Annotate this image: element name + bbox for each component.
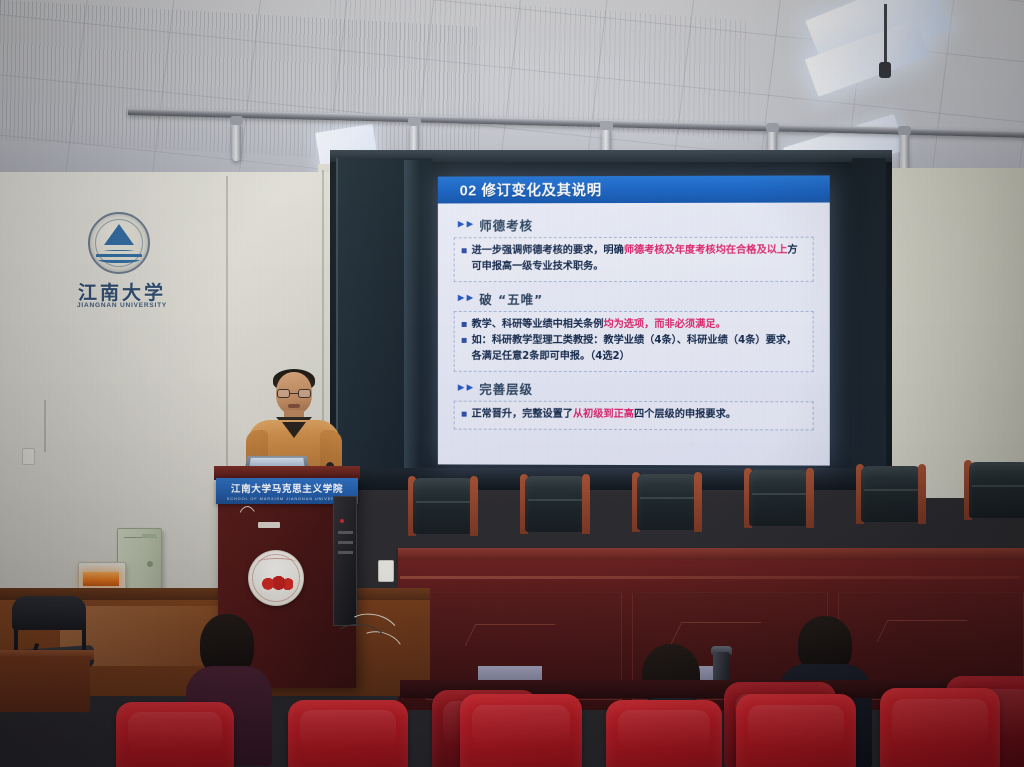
university-emblem-icon (88, 212, 150, 274)
bullet-square-icon (462, 248, 467, 253)
double-arrow-icon: ►► (456, 383, 474, 394)
wall-conduit (44, 400, 46, 452)
bullet-text: 进一步强调师德考核的要求，明确师德考核及年度考核均在合格及以上方可申报高一级专业… (472, 243, 806, 275)
glasses-icon (276, 389, 312, 398)
university-name-cn: 江南大学 (62, 278, 182, 305)
chair-frame-right (918, 464, 926, 524)
audience-seat (460, 694, 582, 767)
section-title-1: 师德考核 (479, 215, 533, 234)
seal-arc-text (257, 558, 297, 567)
bullet-text: 正常晋升，完整设置了从初级到正高四个层级的申报要求。 (472, 407, 736, 423)
side-table (0, 656, 90, 712)
slide-bullet: 教学、科研等业绩中相关条例均为选项，而非必须满足。 (462, 317, 806, 333)
chair-backrest (637, 474, 697, 530)
stage-chair (406, 478, 480, 540)
university-name-en: JIANGNAN UNIVERSITY (62, 302, 182, 309)
slide-title: 02 修订变化及其说明 (438, 179, 602, 200)
bullet-text: 教学、科研等业绩中相关条例均为选项，而非必须满足。 (472, 317, 726, 333)
cabinet-label (142, 534, 156, 538)
glasses-lens-left (277, 389, 290, 398)
thermos-bottle (713, 652, 730, 682)
audience-seat (288, 700, 408, 767)
emblem-ring (95, 219, 143, 267)
bullet-seg-highlight: 师德考核及年度考核均在合格及以上 (624, 245, 787, 256)
slide-bullet: 如：科研教学型理工类教授：教学业绩（4条）、科研业绩（4条）要求，各满足任意2条… (462, 333, 806, 365)
chair-frame-right (470, 476, 478, 536)
track-spotlight-1 (232, 123, 241, 161)
audience-seat (116, 702, 234, 767)
rack-power-led (340, 519, 344, 523)
cabinet-lock-icon (147, 561, 153, 567)
slide-section-heading-2: ►► 破 “五唯” (456, 289, 814, 308)
chair-backrest (525, 476, 585, 532)
slide-bullet: 正常晋升，完整设置了从初级到正高四个层级的申报要求。 (462, 407, 806, 424)
bullet-seg-highlight: 均为选项，而非必须满足。 (603, 319, 725, 330)
track-spotlight-5 (900, 133, 909, 171)
glasses-lens-right (298, 389, 311, 398)
rack-slot (338, 531, 353, 534)
dais-ornament (465, 624, 556, 646)
double-arrow-icon: ►► (456, 219, 474, 230)
audience-seat (880, 688, 1000, 767)
presenter-mouth (288, 404, 300, 408)
dais-ornament (671, 622, 762, 644)
slide-section-heading-3: ►► 完善层级 (456, 379, 814, 399)
heater-glow-element (83, 572, 119, 586)
stage-chair (742, 470, 816, 532)
ceiling-sensor (879, 62, 891, 78)
stage-chair (630, 474, 704, 536)
av-equipment-rack (333, 496, 357, 626)
chair-backrest (413, 478, 473, 534)
bullet-square-icon (462, 338, 467, 343)
glasses-bridge (290, 393, 298, 394)
bullet-square-icon (462, 412, 467, 417)
wall-outlet-left (22, 448, 35, 465)
rack-slot (338, 541, 353, 544)
slide-section-heading-1: ►► 师德考核 (456, 215, 814, 235)
wall-right (884, 168, 1024, 498)
chair-frame-right (694, 472, 702, 532)
chair-seam (528, 499, 582, 501)
section-title-3: 完善层级 (479, 379, 533, 398)
slide-title-bar: 02 修订变化及其说明 (438, 175, 830, 203)
chair-seam (416, 501, 470, 503)
section-title-2: 破 “五唯” (479, 289, 543, 308)
bullet-text: 如：科研教学型理工类教授：教学业绩（4条）、科研业绩（4条）要求，各满足任意2条… (472, 333, 806, 365)
chair-seam (972, 485, 1024, 487)
slide-section-box-1: 进一步强调师德考核的要求，明确师德考核及年度考核均在合格及以上方可申报高一级专业… (454, 237, 814, 282)
dais-ornament (877, 620, 968, 642)
bullet-seg: 进一步强调师德考核的要求，明确 (472, 245, 624, 256)
backdrop-right-panel (852, 158, 886, 488)
bullet-seg: 四个层级的申报要求。 (634, 409, 736, 420)
lecture-hall-photo: 江南大学 JIANGNAN UNIVERSITY 02 修订变化及其说明 ►► … (0, 0, 1024, 767)
chair-seam (752, 493, 806, 495)
podium-banner-en: SCHOOL OF MARXISM JIANGNAN UNIVERSITY (227, 496, 348, 501)
stage-chair (962, 462, 1024, 524)
chair-backrest (861, 466, 921, 522)
chair-seam (640, 497, 694, 499)
chair-frame-right (582, 474, 590, 534)
bullet-seg-highlight: 从初级到正高 (573, 409, 634, 420)
university-logo-plaque: 江南大学 JIANGNAN UNIVERSITY (62, 212, 182, 324)
dais-trim-rail (400, 576, 1020, 579)
light-hanger-cable (884, 4, 887, 66)
audience-seat (606, 700, 722, 767)
bullet-seg: 教学、科研等业绩中相关条例 (472, 319, 604, 330)
backdrop-highlight (404, 160, 420, 480)
podium-banner-cn: 江南大学马克思主义学院 (231, 481, 343, 495)
slide-section-box-3: 正常晋升，完整设置了从初级到正高四个层级的申报要求。 (454, 401, 814, 431)
bullet-square-icon (462, 322, 467, 327)
slide-bullet: 进一步强调师德考核的要求，明确师德考核及年度考核均在合格及以上方可申报高一级专业… (462, 243, 806, 275)
rack-slot (338, 551, 353, 554)
slide-body: ►► 师德考核 进一步强调师德考核的要求，明确师德考核及年度考核均在合格及以上方… (438, 203, 830, 466)
double-arrow-icon: ►► (456, 293, 474, 304)
stage-chair (854, 466, 928, 528)
projection-screen-slide: 02 修订变化及其说明 ►► 师德考核 进一步强调师德考核的要求，明确师德考核及… (438, 175, 830, 465)
bullet-seg: 正常晋升，完整设置了 (472, 409, 573, 420)
audience-seat (736, 694, 856, 767)
podium-tag (258, 522, 280, 528)
wall-outlet-center (378, 560, 394, 582)
stage-chair (518, 476, 592, 538)
chair-seam (864, 489, 918, 491)
chair-backrest (969, 462, 1024, 518)
folding-chair-back (12, 596, 86, 630)
slide-section-box-2: 教学、科研等业绩中相关条例均为选项，而非必须满足。 如：科研教学型理工类教授：教… (454, 311, 814, 373)
chair-backrest (749, 470, 809, 526)
chair-frame-right (806, 468, 814, 528)
